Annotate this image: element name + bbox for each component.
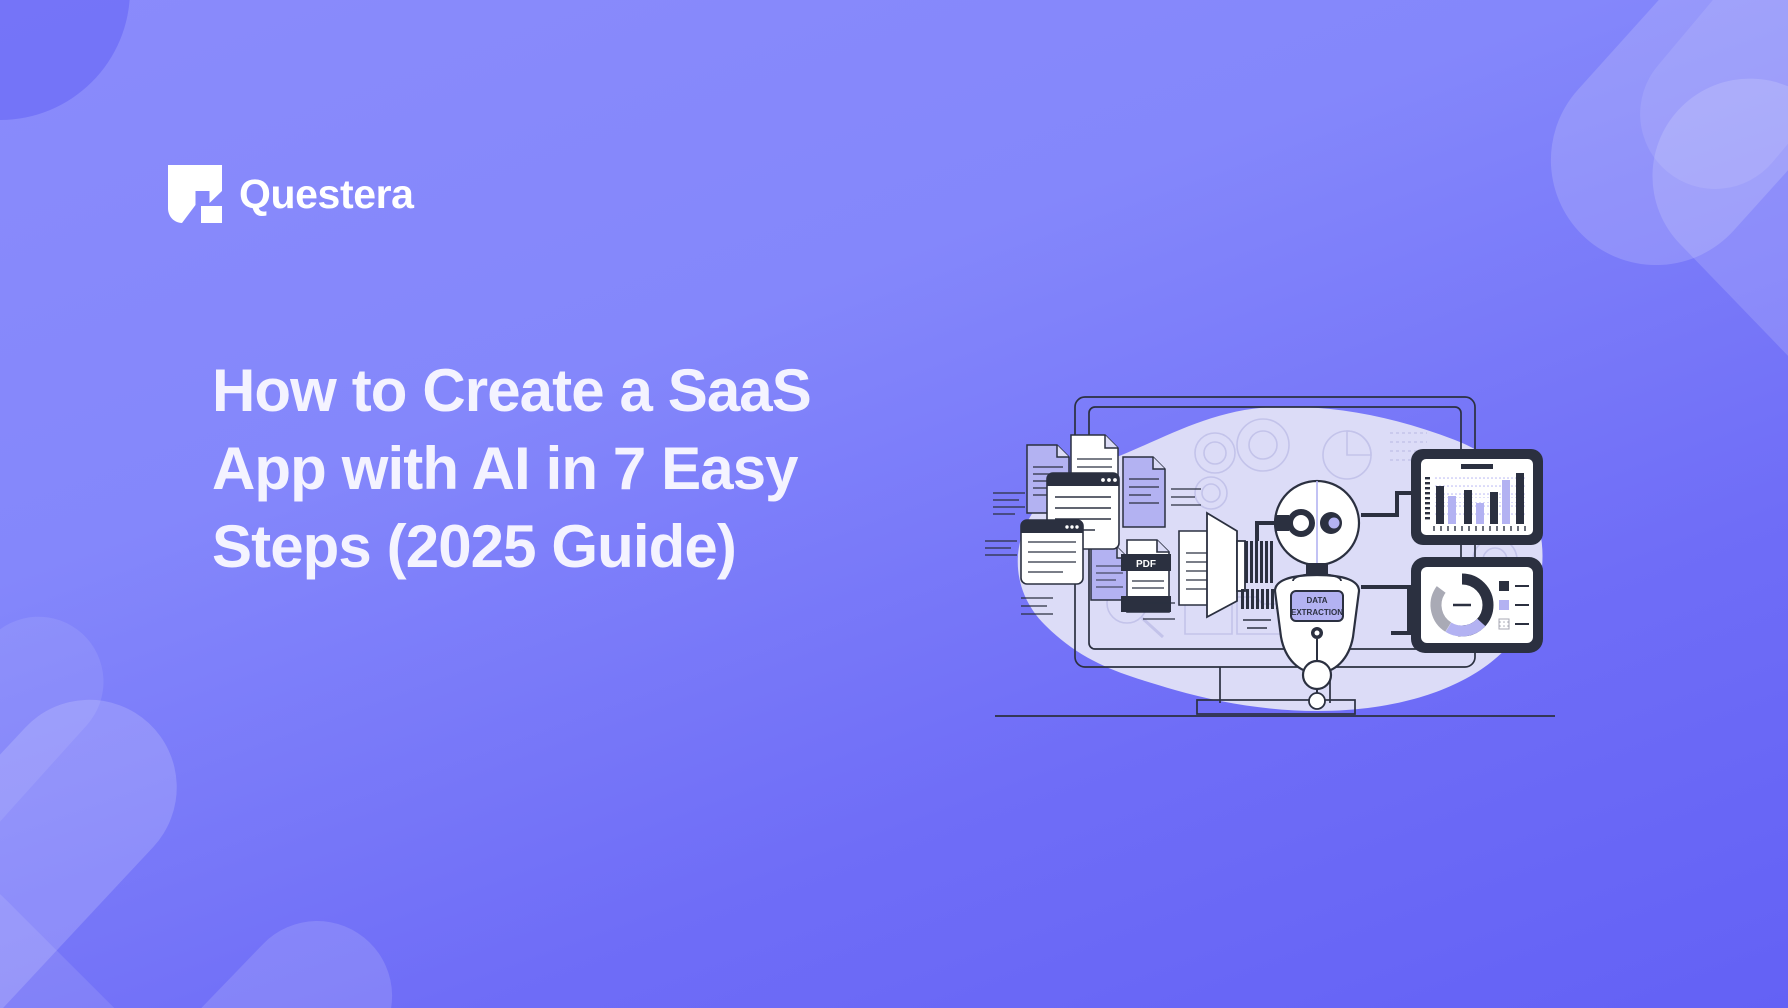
title-line-1: How to Create a SaaS — [212, 352, 932, 430]
title-line-3: Steps (2025 Guide) — [212, 508, 932, 586]
robot-badge-line-2: EXTRACTION — [1291, 608, 1343, 617]
questera-mark-icon — [168, 165, 222, 223]
decorative-shape-bottom-left-3 — [107, 890, 423, 1008]
pdf-label: PDF — [1136, 559, 1156, 570]
hero-illustration: PDF — [975, 345, 1575, 735]
title-line-2: App with AI in 7 Easy — [212, 430, 932, 508]
robot-badge-line-1: DATA — [1306, 596, 1327, 605]
pdf-document: PDF — [1121, 540, 1171, 612]
donut-chart-panel — [1411, 557, 1543, 653]
browser-window-small — [1021, 520, 1083, 584]
document-lilac-2 — [1123, 457, 1165, 527]
brand-logo[interactable]: Questera — [168, 165, 414, 223]
decorative-shape-top-left — [0, 0, 130, 120]
page-title: How to Create a SaaS App with AI in 7 Ea… — [212, 352, 932, 586]
brand-name: Questera — [239, 174, 414, 215]
bar-chart-panel — [1411, 449, 1543, 545]
